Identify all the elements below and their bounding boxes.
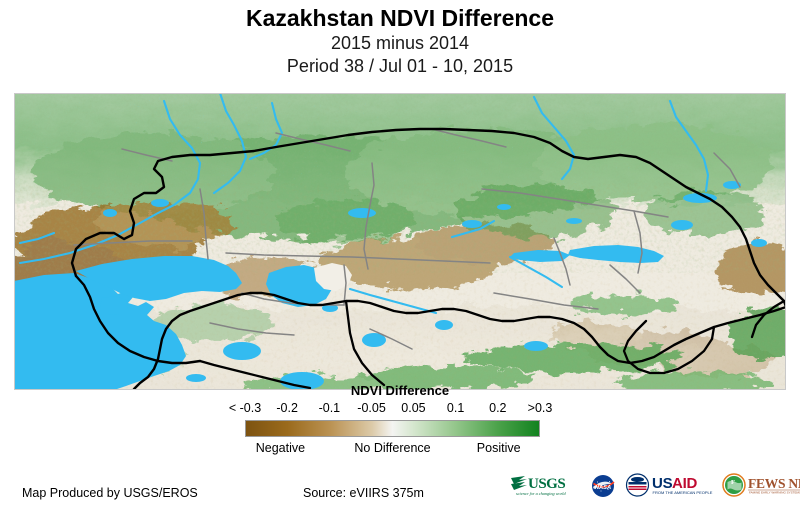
water-lake-north-1 [462, 220, 482, 228]
legend-tick-5: 0.1 [447, 401, 464, 415]
legend-tick-3: -0.05 [357, 401, 386, 415]
legend-sublabel-0: Negative [256, 441, 305, 455]
svg-text:FROM THE AMERICAN PEOPLE: FROM THE AMERICAN PEOPLE [653, 490, 713, 495]
legend-sub-labels: NegativeNo DifferencePositive [180, 441, 620, 457]
water-lake-tengiz [348, 208, 376, 218]
subtitle-comparison: 2015 minus 2014 [0, 32, 800, 55]
legend-tick-1: -0.2 [276, 401, 298, 415]
legend-tick-6: 0.2 [489, 401, 506, 415]
usaid-logo[interactable]: US AID FROM THE AMERICAN PEOPLE [624, 471, 716, 501]
svg-text:FAMINE EARLY WARNING SYSTEMS N: FAMINE EARLY WARNING SYSTEMS NETWORK [749, 491, 800, 495]
ndvi-raster [14, 93, 786, 390]
legend-sublabel-1: No Difference [354, 441, 430, 455]
map-page: Kazakhstan NDVI Difference 2015 minus 20… [0, 0, 800, 512]
title-block: Kazakhstan NDVI Difference 2015 minus 20… [0, 0, 800, 78]
legend-tick-7: >0.3 [528, 401, 553, 415]
water-lake-nw-1 [103, 209, 117, 217]
svg-text:USGS: USGS [528, 476, 565, 492]
legend-color-bar [245, 420, 540, 437]
water-lake-ne-2 [751, 239, 767, 247]
nasa-logo[interactable]: NASA [587, 471, 619, 501]
svg-text:F: F [731, 479, 735, 486]
legend-sublabel-2: Positive [477, 441, 521, 455]
legend-tick-4: 0.05 [401, 401, 425, 415]
svg-text:NASA: NASA [595, 485, 611, 491]
logo-row: USGS science for a changing world NASA U… [510, 470, 800, 502]
water-lake-sw-1 [186, 374, 206, 382]
water-lake-west-1 [151, 199, 169, 207]
subtitle-period: Period 38 / Jul 01 - 10, 2015 [0, 55, 800, 78]
legend-title: NDVI Difference [180, 383, 620, 398]
map-canvas[interactable] [14, 93, 786, 390]
svg-text:AID: AID [672, 475, 698, 492]
svg-text:FEWS NET: FEWS NET [748, 476, 800, 491]
water-lake-north-2 [566, 218, 582, 224]
legend-tick-2: -0.1 [319, 401, 341, 415]
page-title: Kazakhstan NDVI Difference [0, 5, 800, 32]
footer-source: Source: eVIIRS 375m [303, 486, 424, 500]
legend-tick-labels: < -0.3-0.2-0.1-0.050.050.10.2>0.3 [180, 401, 620, 417]
water-lake-center-2 [435, 320, 453, 330]
water-lake-center-3 [524, 341, 548, 351]
legend-tick-0: < -0.3 [229, 401, 261, 415]
fewsnet-logo[interactable]: F FEWS NET FAMINE EARLY WARNING SYSTEMS … [721, 471, 800, 501]
usgs-logo[interactable]: USGS science for a changing world [510, 471, 582, 501]
water-lake-alakol [671, 220, 693, 230]
svg-text:US: US [652, 475, 673, 492]
legend: NDVI Difference < -0.3-0.2-0.1-0.050.050… [180, 383, 620, 463]
water-lake-sarykamysh [223, 342, 261, 360]
footer-credit: Map Produced by USGS/EROS [22, 486, 198, 500]
water-lake-north-3 [497, 204, 511, 210]
svg-text:science for a changing world: science for a changing world [516, 491, 566, 496]
